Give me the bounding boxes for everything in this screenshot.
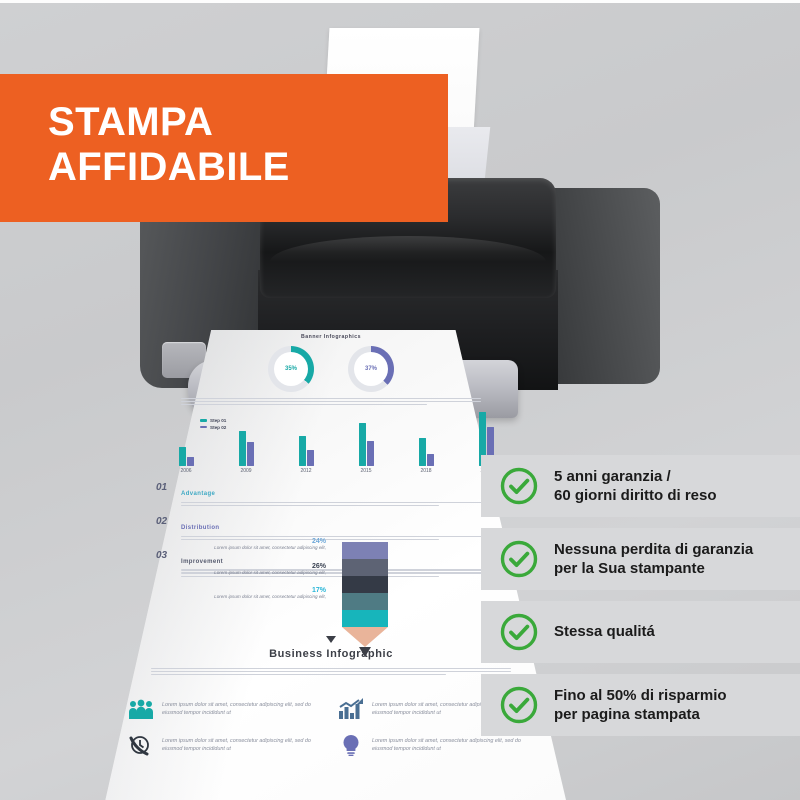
check-circle-icon bbox=[499, 466, 539, 506]
axis-tick-label: 2006 bbox=[180, 468, 191, 474]
feature-label: Fino al 50% di risparmioper pagina stamp… bbox=[554, 686, 727, 724]
top-edge-divider bbox=[0, 0, 800, 3]
page-title: STAMPA AFFIDABILE bbox=[48, 100, 290, 190]
feature-label: Stessa qualitá bbox=[554, 622, 655, 641]
headline-line-1: STAMPA bbox=[48, 100, 213, 144]
bar-step-01 bbox=[299, 436, 306, 466]
section-paragraph-placeholder bbox=[151, 666, 511, 677]
headline-line-2: AFFIDABILE bbox=[48, 145, 290, 189]
feature-list: 5 anni garanzia /60 giorni diritto di re… bbox=[481, 455, 800, 747]
funnel-label-1: 24% Lorem ipsum dolor sit amet, consecte… bbox=[116, 538, 326, 552]
funnel-value: 17% bbox=[116, 587, 326, 594]
list-title: Distribution bbox=[181, 525, 219, 531]
intro-paragraph-placeholder bbox=[181, 396, 481, 407]
infographic-title: Banner Infographics bbox=[301, 334, 361, 340]
headline-banner: STAMPA AFFIDABILE bbox=[0, 74, 448, 222]
donut-chart-2: 37% bbox=[348, 346, 394, 392]
funnel-text: Lorem ipsum dolor sit amet, consectetur … bbox=[116, 594, 326, 601]
axis-tick-label: 2018 bbox=[420, 468, 431, 474]
feature-box[interactable]: 5 anni garanzia /60 giorni diritto di re… bbox=[481, 455, 800, 517]
bar-step-01 bbox=[359, 423, 366, 466]
axis-tick-label: 2012 bbox=[300, 468, 311, 474]
list-item: 01 Advantage bbox=[156, 482, 496, 508]
section-title: Business Infographic bbox=[269, 648, 393, 660]
growth-chart-icon bbox=[338, 698, 364, 720]
icon-feature-item: Lorem ipsum dolor sit amet, consectetur … bbox=[128, 734, 328, 756]
lightbulb-icon bbox=[338, 734, 364, 756]
pencil-funnel-graphic bbox=[342, 542, 388, 647]
axis-tick-label: 2015 bbox=[360, 468, 371, 474]
bar-step-02 bbox=[247, 442, 254, 466]
bar-chart-axis-labels: 200620092012201520182023 bbox=[156, 468, 516, 474]
funnel-value: 24% bbox=[116, 538, 326, 545]
feature-box[interactable]: Fino al 50% di risparmioper pagina stamp… bbox=[481, 674, 800, 736]
bar-step-01 bbox=[419, 438, 426, 466]
down-arrow-icon bbox=[326, 636, 336, 643]
donut-chart-1: 35% bbox=[268, 346, 314, 392]
bar-step-02 bbox=[367, 441, 374, 466]
bar-group bbox=[359, 423, 374, 466]
funnel-label-3: 17% Lorem ipsum dolor sit amet, consecte… bbox=[116, 587, 326, 601]
bar-group bbox=[419, 438, 434, 466]
icon-feature-text: Lorem ipsum dolor sit amet, consectetur … bbox=[162, 737, 328, 754]
funnel-text: Lorem ipsum dolor sit amet, consectetur … bbox=[116, 545, 326, 552]
people-group-icon bbox=[128, 698, 154, 720]
check-circle-icon bbox=[499, 612, 539, 652]
feature-label: 5 anni garanzia /60 giorni diritto di re… bbox=[554, 467, 717, 505]
check-circle-icon bbox=[499, 539, 539, 579]
list-title: Advantage bbox=[181, 491, 215, 497]
bar-group bbox=[239, 431, 254, 466]
clock-phone-icon bbox=[128, 734, 154, 756]
funnel-label-2: 26% Lorem ipsum dolor sit amet, consecte… bbox=[116, 563, 326, 577]
bar-step-02 bbox=[307, 450, 314, 466]
bar-group bbox=[299, 436, 314, 466]
icon-feature-item: Lorem ipsum dolor sit amet, consectetur … bbox=[128, 698, 328, 720]
bar-chart bbox=[156, 408, 516, 466]
donut-chart-group: 35% 37% bbox=[268, 346, 394, 392]
bar-step-02 bbox=[427, 454, 434, 466]
bar-step-02 bbox=[187, 457, 194, 466]
donut-value-1: 35% bbox=[285, 366, 297, 372]
donut-value-2: 37% bbox=[365, 366, 377, 372]
pencil-wood-tip bbox=[342, 627, 388, 647]
axis-tick-label: 2009 bbox=[240, 468, 251, 474]
check-circle-icon bbox=[499, 685, 539, 725]
feature-box[interactable]: Nessuna perdita di garanziaper la Sua st… bbox=[481, 528, 800, 590]
funnel-labels: 24% Lorem ipsum dolor sit amet, consecte… bbox=[116, 538, 326, 612]
funnel-value: 26% bbox=[116, 563, 326, 570]
bar-step-01 bbox=[239, 431, 246, 466]
feature-box[interactable]: Stessa qualitá bbox=[481, 601, 800, 663]
bar-group bbox=[179, 447, 194, 466]
feature-label: Nessuna perdita di garanziaper la Sua st… bbox=[554, 540, 753, 578]
list-number: 01 bbox=[156, 482, 174, 493]
icon-feature-text: Lorem ipsum dolor sit amet, consectetur … bbox=[162, 701, 328, 718]
poster-canvas: Banner Infographics 35% 37% Step 01 Step… bbox=[0, 0, 800, 800]
bar-step-01 bbox=[179, 447, 186, 466]
funnel-text: Lorem ipsum dolor sit amet, consectetur … bbox=[116, 570, 326, 577]
list-number: 02 bbox=[156, 516, 174, 527]
